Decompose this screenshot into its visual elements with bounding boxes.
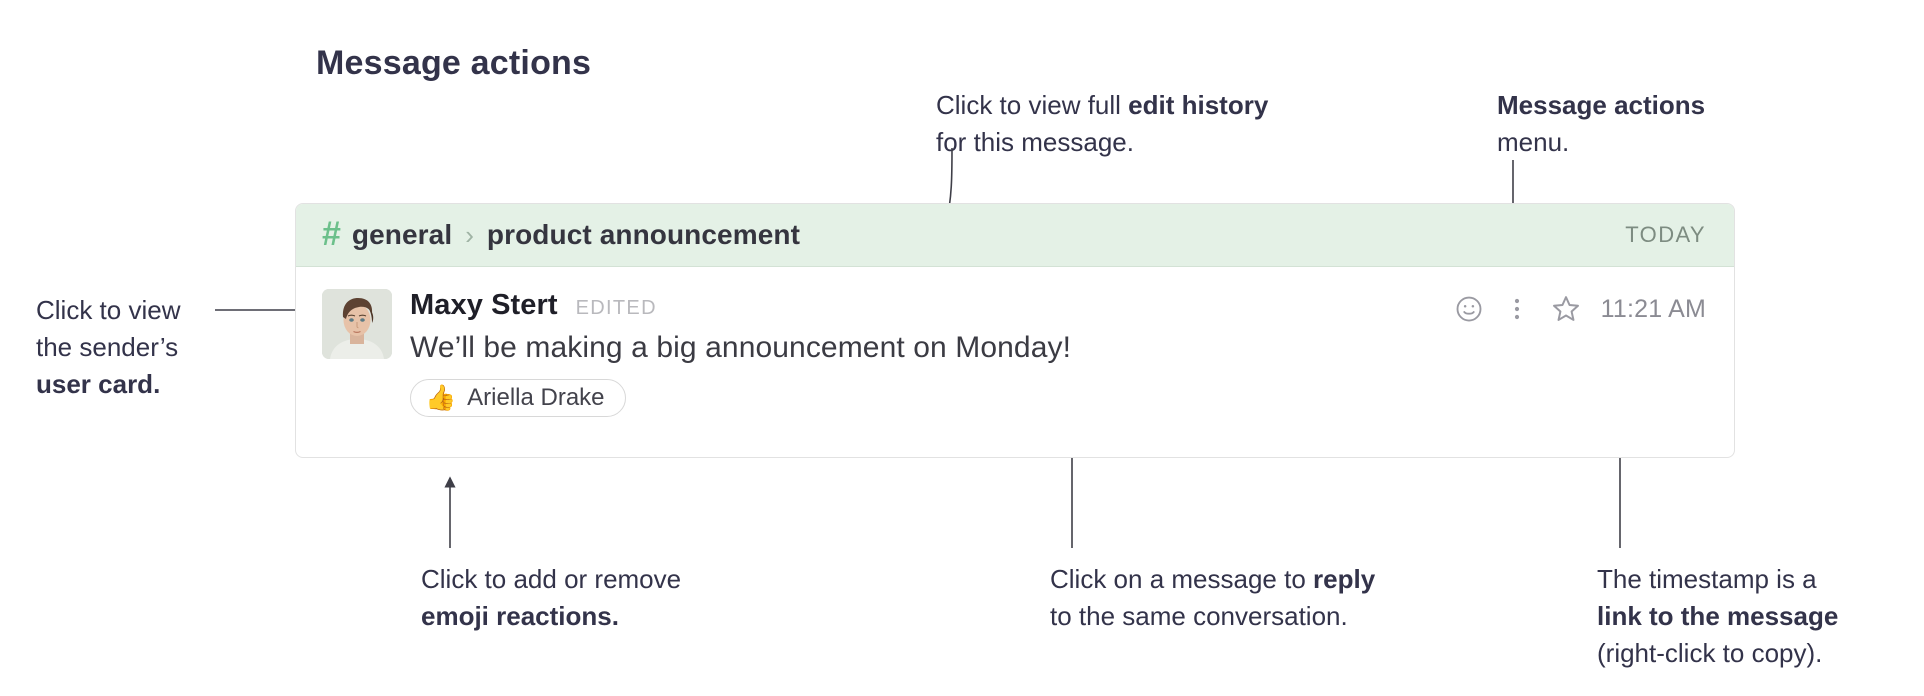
user-avatar-photo xyxy=(322,289,392,359)
annotation-user-card-line2: the sender’s xyxy=(36,329,180,366)
message-timestamp-link[interactable]: 11:21 AM xyxy=(1601,295,1706,324)
annotation-reply-line1-prefix: Click on a message to xyxy=(1050,564,1313,594)
reaction-user-label: Ariella Drake xyxy=(467,384,604,412)
annotation-message-actions: Message actions menu. xyxy=(1497,87,1705,161)
annotation-emoji-reactions-line1: Click to add or remove xyxy=(421,561,681,598)
annotation-reply: Click on a message to reply to the same … xyxy=(1050,561,1375,635)
annotation-edit-history-line1-prefix: Click to view full xyxy=(936,90,1128,120)
annotation-message-actions-line1: Message actions xyxy=(1497,90,1705,120)
reaction-row: 👍 Ariella Drake xyxy=(410,379,1706,417)
annotation-user-card-line1: Click to view xyxy=(36,292,180,329)
annotation-emoji-reactions-line2: emoji reactions. xyxy=(421,601,619,631)
thumbs-up-icon: 👍 xyxy=(425,386,456,411)
annotation-timestamp-line2: link to the message xyxy=(1597,601,1838,631)
annotation-timestamp-line3: (right-click to copy). xyxy=(1597,635,1838,672)
annotation-timestamp: The timestamp is a link to the message (… xyxy=(1597,561,1838,672)
annotation-edit-history-line2: for this message. xyxy=(936,124,1268,161)
breadcrumb-topic[interactable]: product announcement xyxy=(487,219,800,251)
edited-badge[interactable]: EDITED xyxy=(576,297,657,320)
annotation-reply-line2: to the same conversation. xyxy=(1050,598,1375,635)
breadcrumb-channel[interactable]: general xyxy=(352,219,452,251)
channel-header: # general › product announcement TODAY xyxy=(296,204,1734,267)
kebab-menu-icon[interactable] xyxy=(1504,294,1530,324)
annotation-edit-history-line1-bold: edit history xyxy=(1128,90,1268,120)
annotation-reply-line1-bold: reply xyxy=(1313,564,1375,594)
annotation-user-card-line3: user card. xyxy=(36,369,160,399)
chevron-right-icon: › xyxy=(465,220,474,251)
message-body[interactable]: We’ll be making a big announcement on Mo… xyxy=(410,331,1706,365)
sender-name[interactable]: Maxy Stert xyxy=(410,289,558,322)
hash-icon: # xyxy=(322,217,341,251)
annotation-message-actions-line2: menu. xyxy=(1497,124,1705,161)
emoji-picker-icon[interactable] xyxy=(1454,294,1484,324)
star-icon[interactable] xyxy=(1550,293,1582,325)
annotation-timestamp-line1: The timestamp is a xyxy=(1597,561,1838,598)
message-card: # general › product announcement TODAY xyxy=(295,203,1735,458)
annotation-edit-history: Click to view full edit history for this… xyxy=(936,87,1268,161)
annotation-emoji-reactions: Click to add or remove emoji reactions. xyxy=(421,561,681,635)
day-label: TODAY xyxy=(1625,222,1706,248)
reaction-pill[interactable]: 👍 Ariella Drake xyxy=(410,379,626,417)
message-actions-bar: 11:21 AM xyxy=(1454,293,1706,325)
avatar[interactable] xyxy=(322,289,392,359)
annotation-user-card: Click to view the sender’s user card. xyxy=(36,292,180,403)
message-row[interactable]: Maxy Stert EDITED We’ll be making a big … xyxy=(296,267,1734,417)
page-title: Message actions xyxy=(316,44,591,83)
